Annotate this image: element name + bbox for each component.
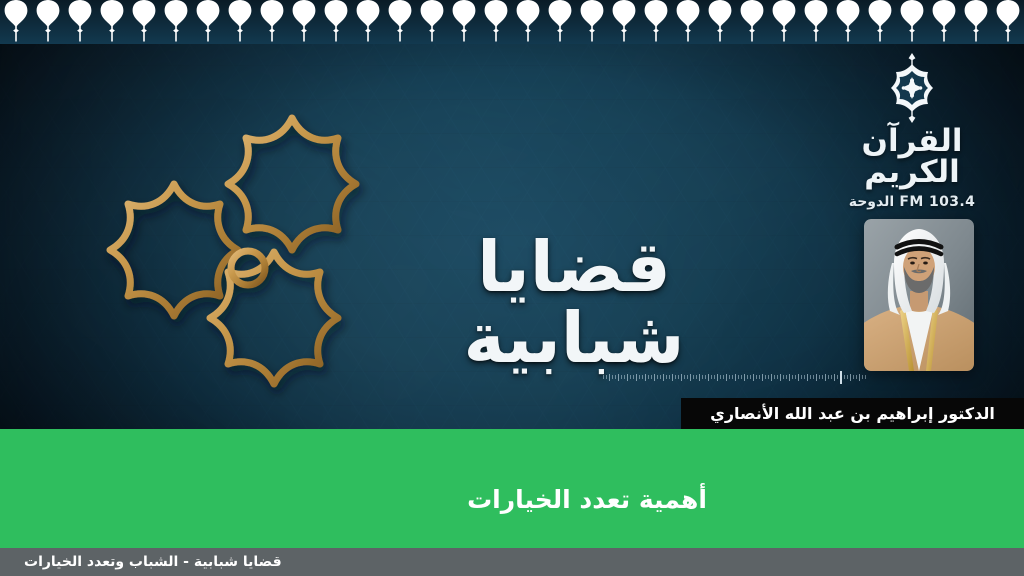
speaker-name-bar: الدكتور إبراهيم بن عبد الله الأنصاري — [681, 398, 1024, 429]
tick-marks-divider-icon — [548, 369, 866, 385]
program-title: قضايا شبابية — [359, 232, 789, 375]
station-frequency: 103.4 FM الدوحة — [822, 194, 1002, 210]
station-logo: القرآن الكريم 103.4 FM الدوحة — [822, 52, 1002, 210]
speaker-name-text: الدكتور إبراهيم بن عبد الله الأنصاري — [710, 404, 995, 423]
bottom-ticker-bar: قضايا شبابية - الشباب وتعدد الخيارات — [0, 548, 1024, 576]
speaker-portrait-photo — [864, 219, 974, 371]
scalloped-dome-border-icon — [0, 0, 1024, 44]
topic-title-text: أهمية تعدد الخيارات — [0, 487, 1024, 512]
topic-lower-third: أهمية تعدد الخيارات — [0, 429, 1024, 548]
islamic-interlace-ornament-icon — [96, 100, 396, 420]
broadcast-overlay-screen: قضايا شبابية — [0, 0, 1024, 576]
islamic-medallion-icon — [822, 52, 1002, 124]
ticker-text: قضايا شبابية - الشباب وتعدد الخيارات — [24, 554, 282, 570]
program-title-text: قضايا شبابية — [359, 232, 789, 375]
station-wordmark: القرآن الكريم — [822, 126, 1002, 188]
